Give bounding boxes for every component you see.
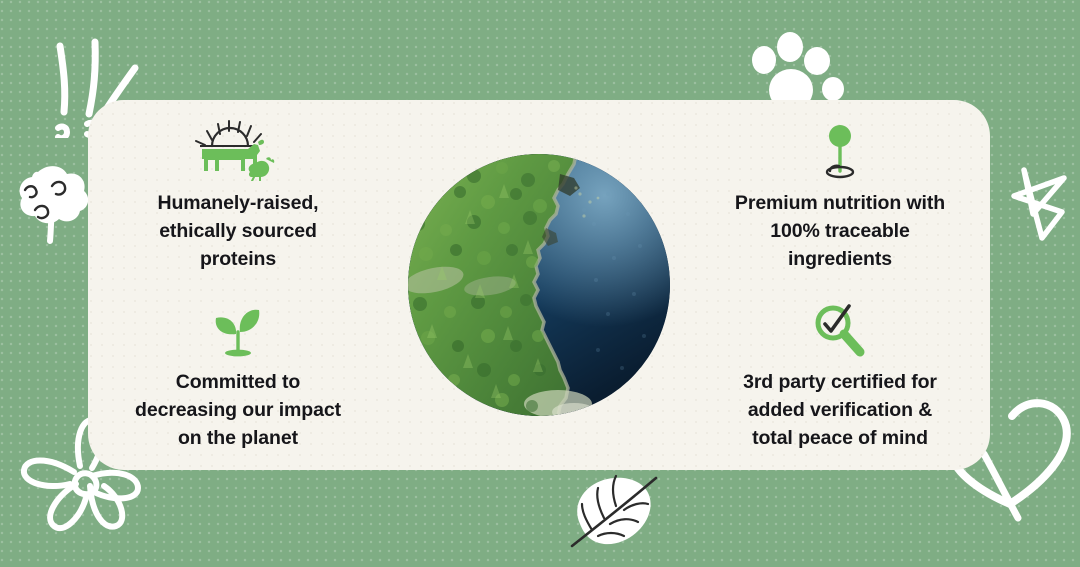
feature-text: Premium nutrition with 100% traceable in… [735,189,945,273]
aerial-forest-lake-photo [408,154,670,416]
center-media-column [388,100,690,470]
feature-humanely-raised: Humanely-raised, ethically sourced prote… [108,119,368,273]
feature-card: Humanely-raised, ethically sourced prote… [88,100,990,470]
feature-text: Committed to decreasing our impact on th… [135,368,341,452]
feature-third-party-certified: 3rd party certified for added verificati… [710,298,970,452]
sprout-icon [210,298,266,360]
cow-chicken-sunrise-icon [192,119,284,181]
tree-doodle [8,160,98,250]
feature-premium-nutrition: Premium nutrition with 100% traceable in… [710,119,970,273]
feature-text: Humanely-raised, ethically sourced prote… [158,189,319,273]
star-doodle [1000,162,1076,244]
feature-decreasing-impact: Committed to decreasing our impact on th… [108,298,368,452]
feature-text: 3rd party certified for added verificati… [743,368,937,452]
left-feature-column: Humanely-raised, ethically sourced prote… [88,100,388,470]
right-feature-column: Premium nutrition with 100% traceable in… [690,100,990,470]
leaf-doodle [558,468,678,560]
promo-poster: Humanely-raised, ethically sourced prote… [0,0,1080,567]
magnifier-check-icon [810,298,870,360]
map-pin-icon [812,119,868,181]
